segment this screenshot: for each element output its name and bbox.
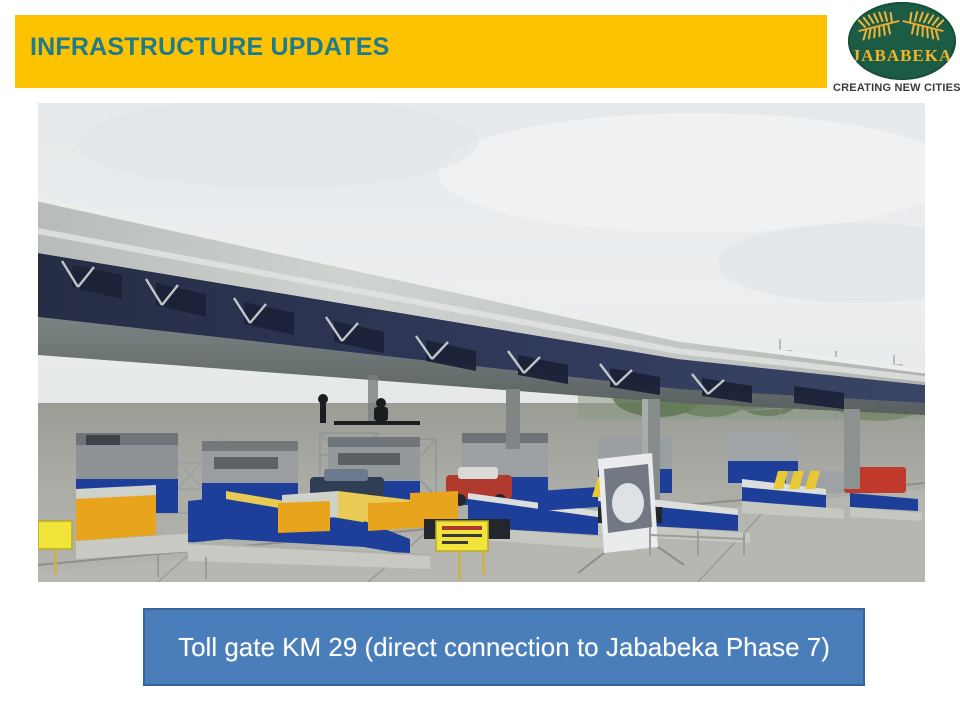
toll-gate-photo-image bbox=[38, 103, 925, 582]
photo-caption-box: Toll gate KM 29 (direct connection to Ja… bbox=[143, 608, 865, 686]
wheat-frond-icon bbox=[853, 6, 905, 46]
logo-oval-icon: JABABEKA bbox=[848, 2, 956, 80]
logo-tagline: CREATING NEW CITIES bbox=[833, 82, 960, 94]
title-banner: INFRASTRUCTURE UPDATES bbox=[15, 15, 827, 88]
wheat-frond-icon bbox=[897, 6, 949, 46]
logo-wordmark: JABABEKA bbox=[848, 46, 956, 66]
page-title: INFRASTRUCTURE UPDATES bbox=[30, 33, 390, 62]
toll-gate-photo bbox=[38, 103, 925, 582]
photo-caption-text: Toll gate KM 29 (direct connection to Ja… bbox=[178, 632, 830, 663]
slide-canvas: INFRASTRUCTURE UPDATES bbox=[0, 0, 960, 720]
brand-logo: JABABEKA CREATING NEW CITIES bbox=[828, 0, 960, 100]
